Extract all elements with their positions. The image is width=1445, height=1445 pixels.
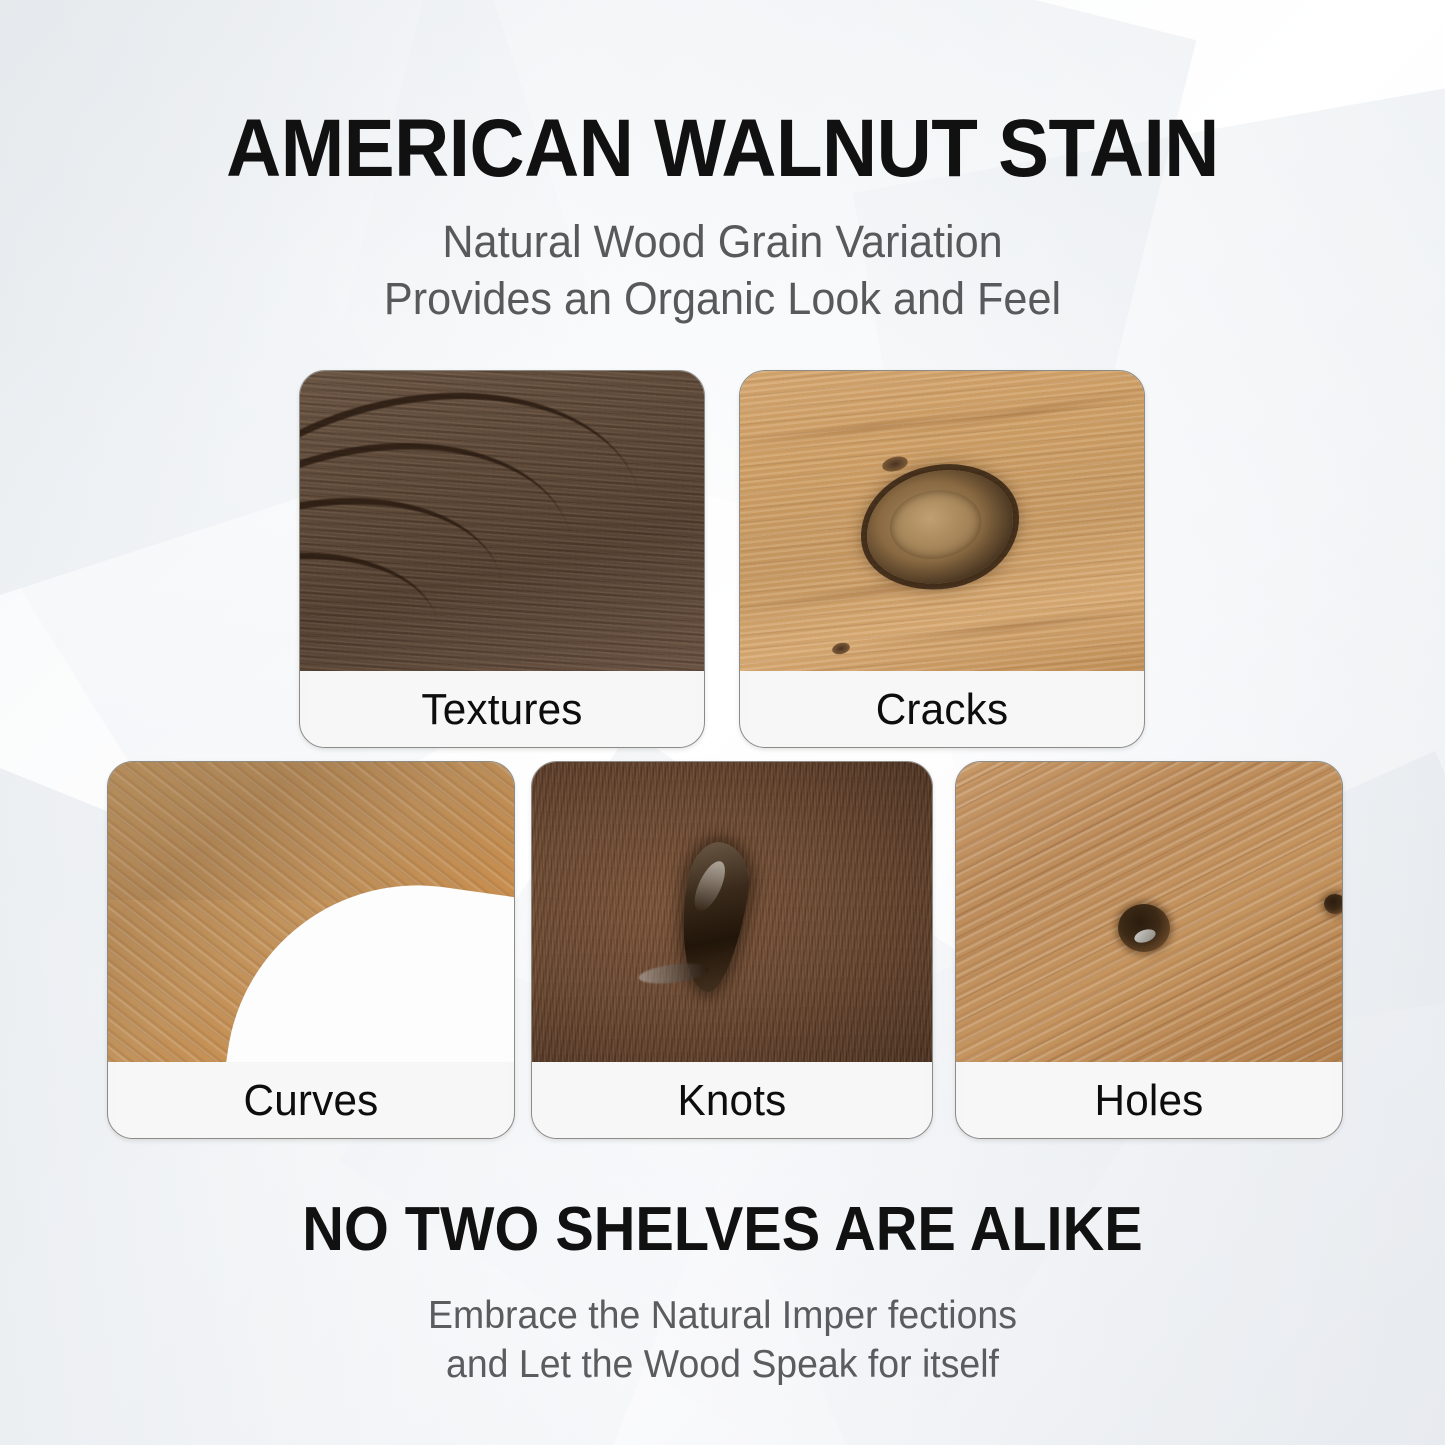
card-label-holes: Holes (964, 1063, 1335, 1138)
card-label-cracks: Cracks (748, 672, 1136, 747)
curve-shading (108, 762, 514, 900)
wood-hole (1324, 894, 1342, 914)
feature-card-curves[interactable]: Curves (107, 761, 515, 1139)
feature-card-textures[interactable]: Textures (299, 370, 705, 748)
footer-title: NO TWO SHELVES ARE ALIKE (51, 1194, 1395, 1266)
infographic-canvas: AMERICAN WALNUT STAIN Natural Wood Grain… (0, 0, 1445, 1445)
holes-photo (956, 762, 1342, 1062)
main-title: AMERICAN WALNUT STAIN (51, 103, 1395, 195)
card-label-textures: Textures (308, 672, 696, 747)
card-label-knots: Knots (540, 1063, 924, 1138)
feature-card-cracks[interactable]: Cracks (739, 370, 1145, 748)
wood-hole (1118, 904, 1170, 952)
cracks-photo (740, 371, 1144, 671)
main-subtitle: Natural Wood Grain Variation Provides an… (29, 213, 1416, 327)
card-label-curves: Curves (116, 1063, 506, 1138)
knots-photo (532, 762, 932, 1062)
textures-photo (300, 371, 704, 671)
feature-card-holes[interactable]: Holes (955, 761, 1343, 1139)
curves-photo (108, 762, 514, 1062)
feature-card-knots[interactable]: Knots (531, 761, 933, 1139)
grain-arc-rings (300, 371, 704, 671)
footer-subtitle: Embrace the Natural Imper fections and L… (29, 1291, 1416, 1389)
